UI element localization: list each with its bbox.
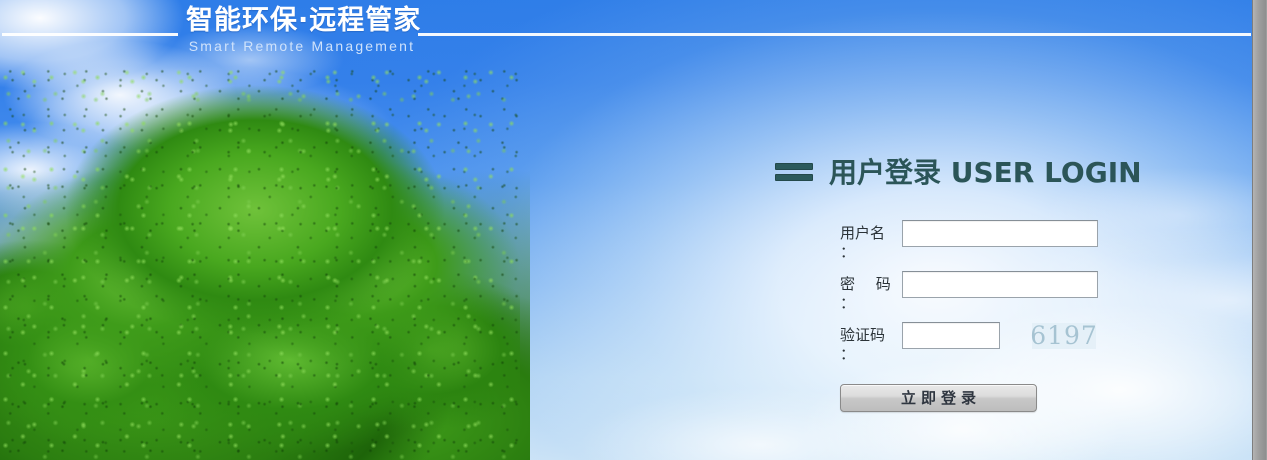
header-rule-right (418, 33, 1251, 36)
tree-image (0, 60, 520, 460)
login-form: 用户名 ： 密 码 ： 验证码 ： 6197 (840, 220, 1155, 364)
field-row-captcha: 验证码 ： 6197 (840, 322, 1155, 364)
bar-bottom (775, 174, 813, 181)
login-button-row: 立即登录 (840, 384, 1155, 412)
header-rule-left (2, 33, 178, 36)
field-row-password: 密 码 ： (840, 271, 1155, 313)
password-label: 密 码 ： (840, 271, 902, 313)
username-input[interactable] (902, 220, 1098, 247)
captcha-input[interactable] (902, 322, 1000, 349)
login-page: 智能环保·远程管家 Smart Remote Management 用户登录 U… (0, 0, 1267, 460)
captcha-label-colon: ： (840, 345, 902, 364)
captcha-label-text: 验证码 (840, 326, 902, 345)
login-heading-row: 用户登录 USER LOGIN (775, 150, 1155, 196)
page-header: 智能环保·远程管家 Smart Remote Management (0, 0, 1267, 66)
bar-top (775, 163, 813, 170)
captcha-label: 验证码 ： (840, 322, 902, 364)
username-label-text: 用户名 (840, 224, 902, 243)
password-label-text: 密 码 (840, 275, 902, 294)
username-label: 用户名 ： (840, 220, 902, 262)
username-label-colon: ： (840, 243, 902, 262)
brand-title-en: Smart Remote Management (186, 37, 418, 56)
field-row-username: 用户名 ： (840, 220, 1155, 262)
login-heading: 用户登录 USER LOGIN (829, 157, 1142, 189)
two-bars-icon (775, 163, 815, 184)
login-panel: 用户登录 USER LOGIN 用户名 ： 密 码 ： 验证码 (775, 150, 1155, 412)
vertical-scrollbar[interactable] (1252, 0, 1267, 460)
tree-leaf-texture (0, 60, 520, 460)
brand-title-cn: 智能环保·远程管家 (186, 6, 418, 36)
scrollbar-thumb[interactable] (1253, 0, 1266, 460)
captcha-image[interactable]: 6197 (1032, 323, 1096, 349)
login-submit-button[interactable]: 立即登录 (840, 384, 1037, 412)
brand-block: 智能环保·远程管家 Smart Remote Management (186, 6, 418, 56)
password-input[interactable] (902, 271, 1098, 298)
password-label-colon: ： (840, 294, 902, 313)
